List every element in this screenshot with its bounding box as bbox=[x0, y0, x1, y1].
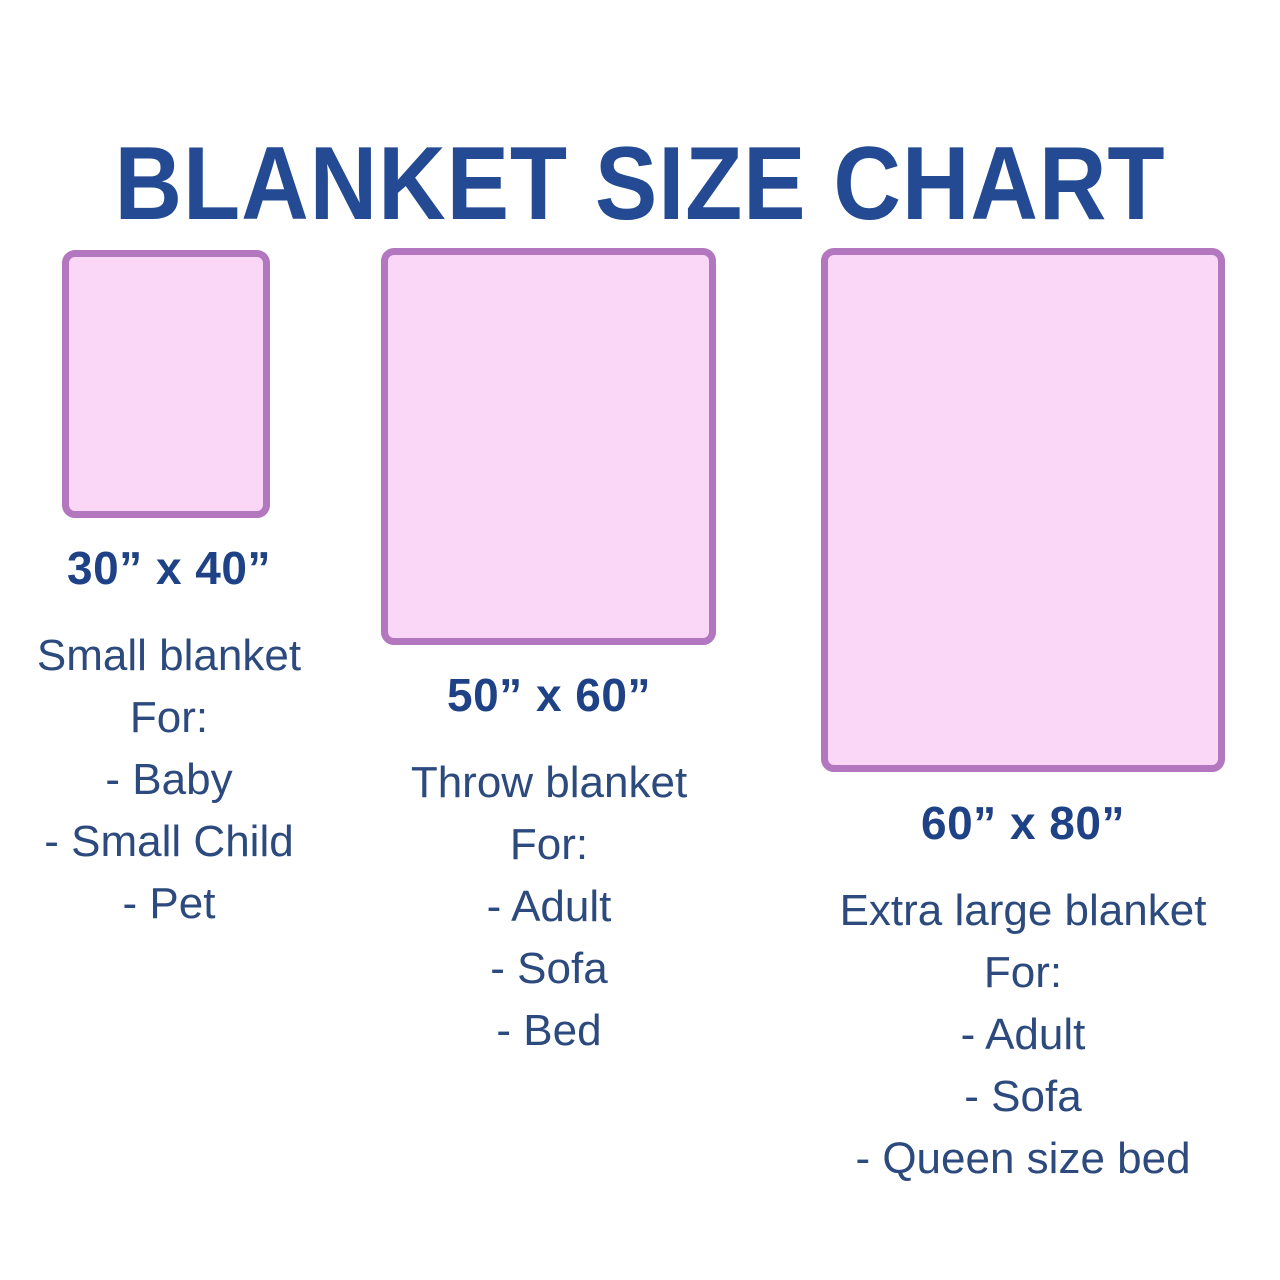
use-line-xlarge-2: - Sofa bbox=[790, 1066, 1256, 1128]
use-line-small-3: - Pet bbox=[0, 873, 338, 935]
page-title: BLANKET SIZE CHART bbox=[64, 132, 1216, 236]
use-line-throw-3: - Bed bbox=[368, 1000, 730, 1062]
use-line-small-2: - Small Child bbox=[0, 811, 338, 873]
blanket-size-chart: BLANKET SIZE CHART 30” x 40” Small blank… bbox=[0, 0, 1280, 1280]
size-caption-throw: 50” x 60” Throw blanket For: - Adult - S… bbox=[368, 672, 730, 1062]
blanket-name-throw: Throw blanket bbox=[368, 752, 730, 814]
for-label-throw: For: bbox=[368, 814, 730, 876]
blanket-swatch-xlarge bbox=[821, 248, 1225, 772]
blanket-swatch-small bbox=[62, 250, 270, 518]
dimension-label-throw: 50” x 60” bbox=[368, 672, 730, 718]
blanket-swatch-throw bbox=[381, 248, 716, 645]
for-label-small: For: bbox=[0, 687, 338, 749]
use-line-xlarge-1: - Adult bbox=[790, 1004, 1256, 1066]
for-label-xlarge: For: bbox=[790, 942, 1256, 1004]
dimension-label-small: 30” x 40” bbox=[0, 545, 338, 591]
size-caption-xlarge: 60” x 80” Extra large blanket For: - Adu… bbox=[790, 800, 1256, 1190]
use-line-small-1: - Baby bbox=[0, 749, 338, 811]
blanket-name-small: Small blanket bbox=[0, 625, 338, 687]
dimension-label-xlarge: 60” x 80” bbox=[790, 800, 1256, 846]
use-line-throw-2: - Sofa bbox=[368, 938, 730, 1000]
use-line-xlarge-3: - Queen size bed bbox=[790, 1128, 1256, 1190]
blanket-name-xlarge: Extra large blanket bbox=[790, 880, 1256, 942]
size-caption-small: 30” x 40” Small blanket For: - Baby - Sm… bbox=[0, 545, 338, 935]
use-line-throw-1: - Adult bbox=[368, 876, 730, 938]
